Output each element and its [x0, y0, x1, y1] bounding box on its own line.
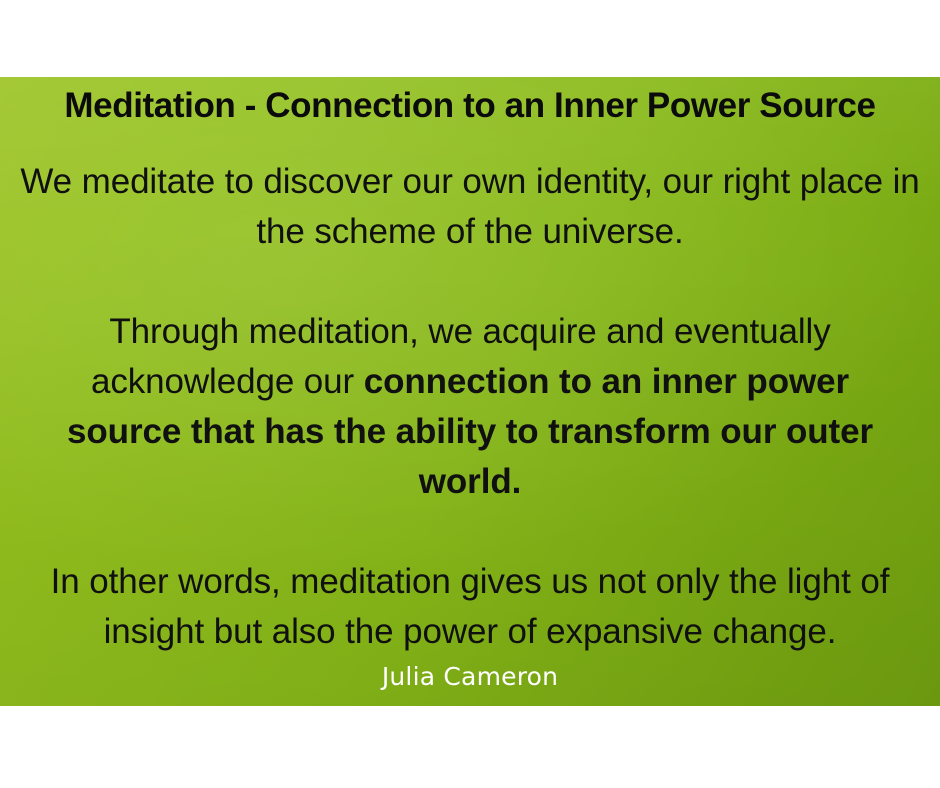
quote-title: Meditation - Connection to an Inner Powe…: [0, 85, 940, 126]
quote-paragraph-3: In other words, meditation gives us not …: [10, 557, 930, 657]
quote-panel: Meditation - Connection to an Inner Powe…: [0, 77, 940, 706]
quote-paragraph-2: Through meditation, we acquire and event…: [10, 307, 930, 507]
quote-body: We meditate to discover our own identity…: [0, 157, 940, 657]
quote-paragraph-1: We meditate to discover our own identity…: [10, 157, 930, 257]
quote-attribution: Julia Cameron: [0, 662, 940, 692]
quote-panel-inner: Meditation - Connection to an Inner Powe…: [0, 77, 940, 706]
quote-card-canvas: Meditation - Connection to an Inner Powe…: [0, 0, 940, 788]
